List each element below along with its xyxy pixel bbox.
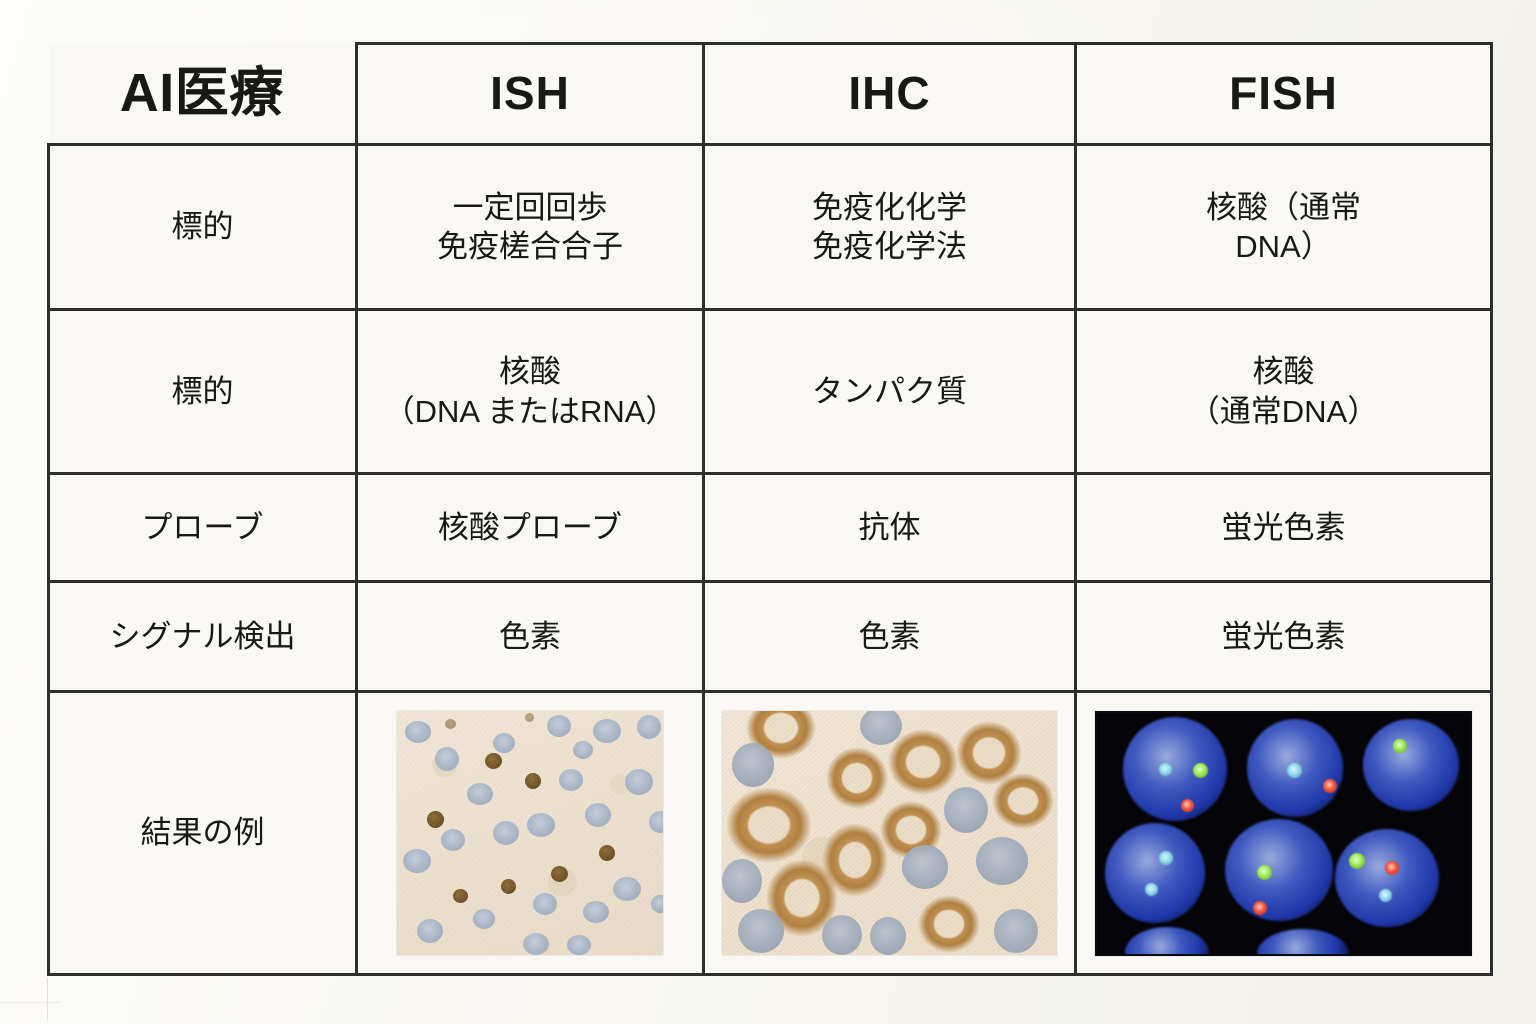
table-header-row: AI医療 ISH IHC FISH (49, 44, 1492, 145)
ihc-micrograph (722, 711, 1057, 955)
column-header-ihc: IHC (704, 44, 1076, 145)
cell-fish-target-1: 核酸（通常 DNA） (1076, 145, 1492, 310)
table-row: プローブ 核酸プローブ 抗体 蛍光色素 (49, 474, 1492, 582)
table-row: 標的 一定回回歩 免疫槎合合子 免疫化化学 免疫化学法 核酸（通常 DNA） (49, 145, 1492, 310)
cell-ish-target-1: 一定回回歩 免疫槎合合子 (357, 145, 704, 310)
comparison-table: AI医療 ISH IHC FISH 標的 一定回回歩 免疫槎合合子 免疫化化学 … (47, 42, 1493, 976)
cell-fish-target-2: 核酸 （通常DNA） (1076, 310, 1492, 474)
cell-ish-target-2: 核酸 （DNA またはRNA） (357, 310, 704, 474)
cell-ihc-target-2: タンパク質 (704, 310, 1076, 474)
cell-ish-example-image (357, 692, 704, 975)
stray-scan-line-horizontal (0, 1002, 60, 1003)
cell-ish-signal: 色素 (357, 582, 704, 692)
cell-fish-probe: 蛍光色素 (1076, 474, 1492, 582)
ish-micrograph (397, 711, 663, 955)
row-label-target-1: 標的 (49, 145, 357, 310)
cell-ish-probe: 核酸プローブ (357, 474, 704, 582)
row-label-example-results: 結果の例 (49, 692, 357, 975)
column-header-fish: FISH (1076, 44, 1492, 145)
column-header-ish: ISH (357, 44, 704, 145)
cell-ihc-example-image (704, 692, 1076, 975)
cell-ihc-target-1: 免疫化化学 免疫化学法 (704, 145, 1076, 310)
cell-ihc-signal: 色素 (704, 582, 1076, 692)
table-row: 標的 核酸 （DNA またはRNA） タンパク質 核酸 （通常DNA） (49, 310, 1492, 474)
page-title: AI医療 (49, 44, 357, 145)
table-row: シグナル検出 色素 色素 蛍光色素 (49, 582, 1492, 692)
table-row-examples: 結果の例 (49, 692, 1492, 975)
row-label-probe: プローブ (49, 474, 357, 582)
row-label-signal-detection: シグナル検出 (49, 582, 357, 692)
cell-ihc-probe: 抗体 (704, 474, 1076, 582)
fish-micrograph (1095, 711, 1472, 956)
row-label-target-2: 標的 (49, 310, 357, 474)
comparison-table-container: AI医療 ISH IHC FISH 標的 一定回回歩 免疫槎合合子 免疫化化学 … (47, 42, 1490, 973)
stray-scan-line-vertical (47, 978, 48, 1020)
cell-fish-signal: 蛍光色素 (1076, 582, 1492, 692)
cell-fish-example-image (1076, 692, 1492, 975)
